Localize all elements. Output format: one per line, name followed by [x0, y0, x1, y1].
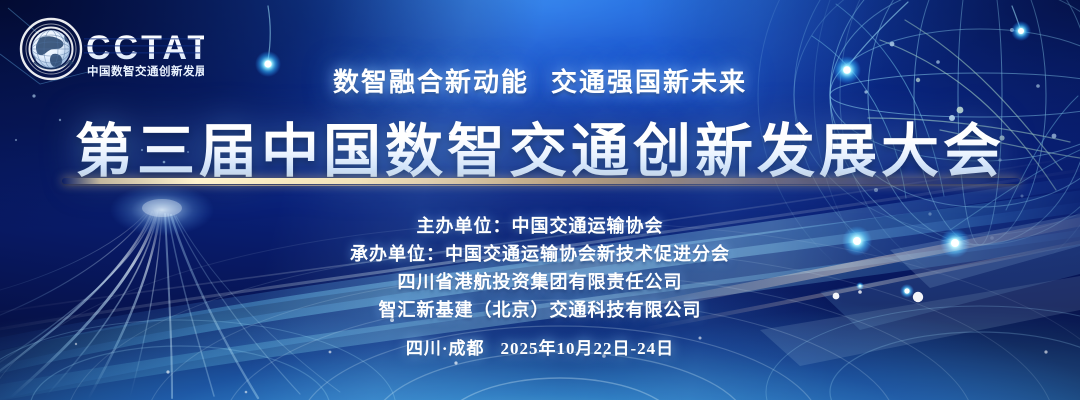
subtitle-right: 交通强国新未来: [551, 68, 747, 97]
conference-banner: CCTAT 中国数智交通创新发展大会 数智融合新动能交通强国新未来 第三届中国数…: [0, 0, 1080, 400]
organizer-line-partner-1: 四川省港航投资集团有限责任公司: [0, 268, 1080, 294]
venue-dates: 2025年10月22日-24日: [501, 339, 675, 358]
banner-subtitle: 数智融合新动能交通强国新未来: [0, 62, 1080, 99]
gold-divider-thin: [62, 185, 1020, 186]
venue-city: 四川·成都: [406, 339, 485, 358]
organizer-line-coorganizer: 承办单位：中国交通运输协会新技术促进分会: [0, 240, 1080, 266]
page-title: 第三届中国数智交通创新发展大会: [0, 104, 1080, 188]
organizer-line-partner-2: 智汇新基建（北京）交通科技有限公司: [0, 296, 1080, 322]
organizer-line-host: 主办单位：中国交通运输协会: [0, 212, 1080, 238]
subtitle-left: 数智融合新动能: [333, 68, 529, 97]
gold-divider: [62, 178, 1020, 184]
venue-date-line: 四川·成都2025年10月22日-24日: [0, 334, 1080, 359]
